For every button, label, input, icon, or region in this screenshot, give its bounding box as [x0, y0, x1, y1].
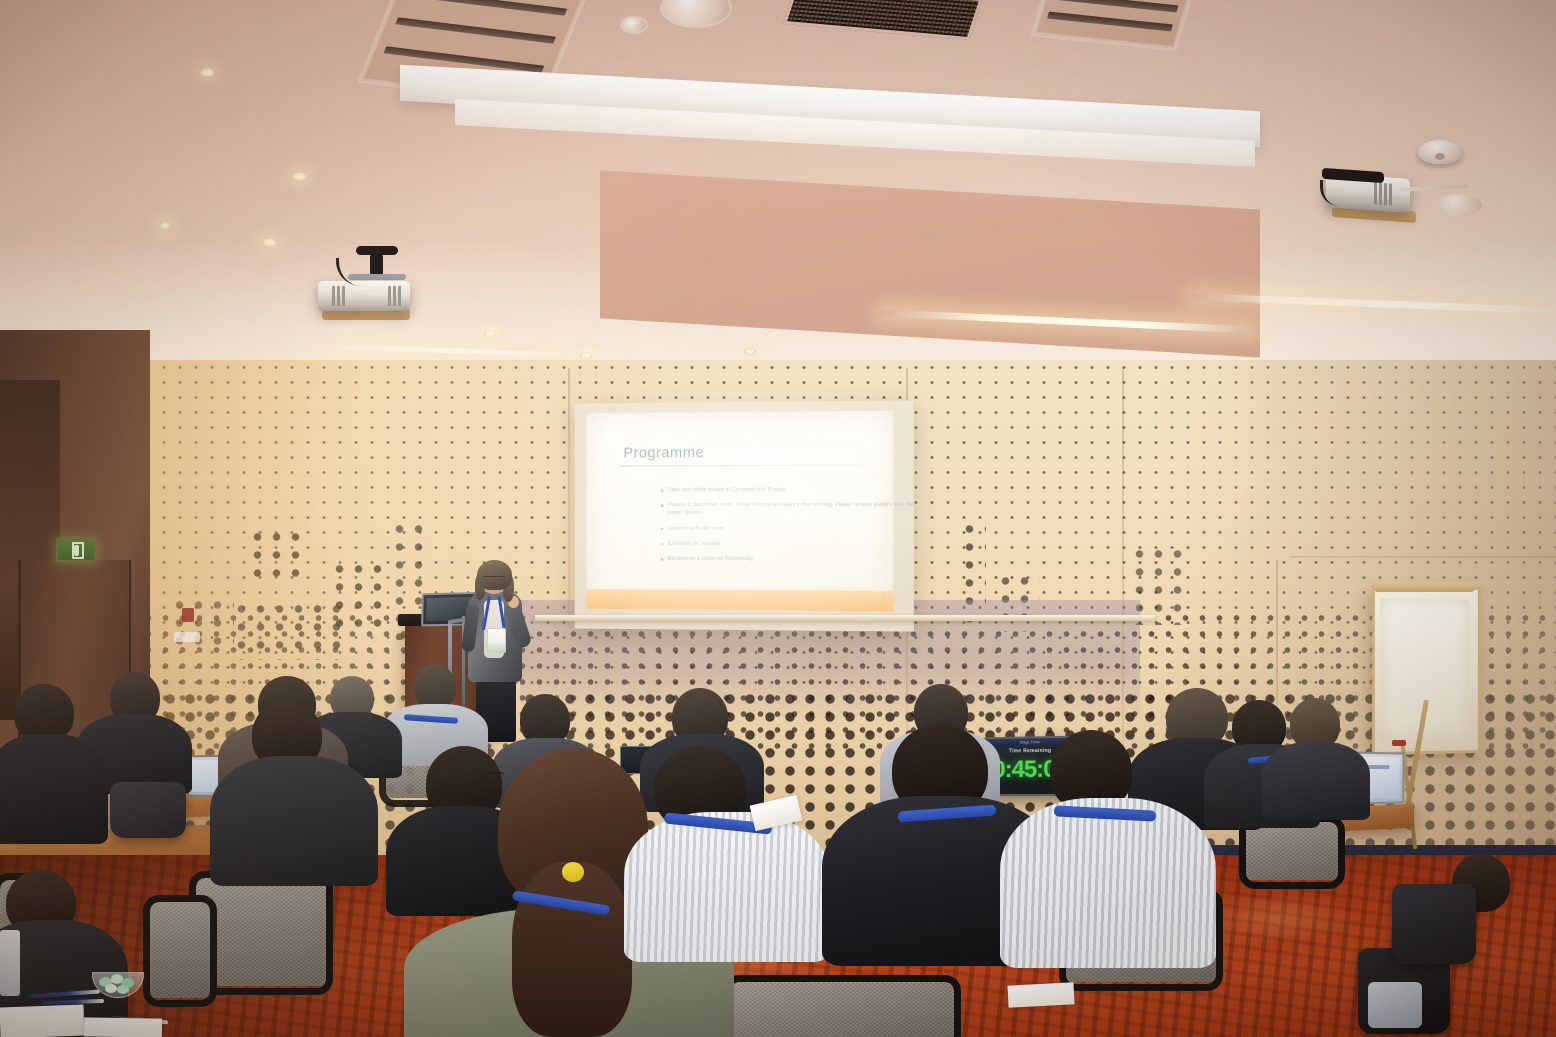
- audience-shoulders: [624, 812, 830, 962]
- flipchart-icon: [1372, 585, 1481, 755]
- conference-room-photo: Programme Talks and coffee breaks in Con…: [0, 0, 1556, 1037]
- presenter-badge: [487, 628, 506, 653]
- flipchart-clamp: [1374, 582, 1475, 592]
- ceiling-downlight-icon: [620, 16, 648, 34]
- bag[interactable]: [110, 782, 186, 838]
- presenter-glasses-icon: [483, 576, 505, 583]
- conference-chair[interactable]: [730, 982, 954, 1037]
- slide-footer-band: [586, 589, 893, 611]
- ponytail: [512, 862, 632, 1037]
- yellow-hair-tie-icon: [562, 862, 584, 882]
- water-bottle[interactable]: [0, 930, 20, 996]
- audience-shoulders: [1262, 742, 1370, 820]
- flipchart-marker[interactable]: [1392, 740, 1406, 746]
- downlight-glow: [478, 324, 504, 338]
- audience-glasses-icon: [486, 772, 504, 784]
- projected-slide: Programme Talks and coffee breaks in Con…: [586, 411, 893, 611]
- candy: [117, 985, 129, 994]
- smoke-detector-icon: [1418, 140, 1462, 164]
- exit-sign-icon: [56, 538, 96, 562]
- conference-chair[interactable]: [150, 902, 210, 998]
- presenter-hair: [477, 560, 512, 590]
- downlight-icon: [200, 68, 215, 77]
- audience-shoulders: [0, 734, 108, 844]
- ceiling-projector-icon: [318, 281, 410, 311]
- tote-bag[interactable]: [1368, 982, 1422, 1028]
- wall-panel-seam: [1290, 556, 1556, 558]
- note-paper[interactable]: [0, 1005, 85, 1037]
- note-paper[interactable]: [1007, 982, 1074, 1007]
- slide-bullet-list: Talks and coffee breaks in Congress Hall…: [621, 486, 918, 571]
- ceiling-downlight-icon: [1434, 192, 1484, 218]
- audience-shoulders: [1000, 798, 1216, 968]
- slide-bullet: Posters in Stockholm room. Poster holder…: [661, 501, 918, 518]
- slide-bullet: Talks and coffee breaks in Congress Hall…: [661, 486, 918, 495]
- slide-bullet: Lunches in Berlin room: [661, 525, 918, 533]
- wall-sign: [174, 632, 200, 642]
- downlight-icon: [744, 348, 756, 355]
- slide-bullet: Banquet on a cruise on Wednesday: [661, 555, 918, 564]
- candy: [105, 984, 117, 993]
- projection-screen: Programme Talks and coffee breaks in Con…: [575, 400, 914, 631]
- note-paper[interactable]: [84, 1017, 162, 1037]
- downlight-icon: [160, 222, 170, 229]
- conference-chair[interactable]: [1246, 822, 1338, 880]
- downlight-icon: [262, 238, 277, 247]
- downlight-glow: [574, 346, 600, 360]
- wall-ledge: [535, 615, 1155, 621]
- slide-title: Programme: [623, 444, 704, 461]
- audience-shoulders: [210, 756, 378, 886]
- projector-mount-pole: [370, 254, 383, 276]
- downlight-icon: [292, 172, 307, 181]
- slide-bullet: Excursion on Tuesday: [661, 540, 918, 549]
- backpack[interactable]: [1392, 884, 1476, 964]
- wall-fire-alarm-icon[interactable]: [182, 608, 194, 622]
- slide-title-rule: [619, 465, 862, 467]
- wall-panel-seam: [568, 368, 570, 628]
